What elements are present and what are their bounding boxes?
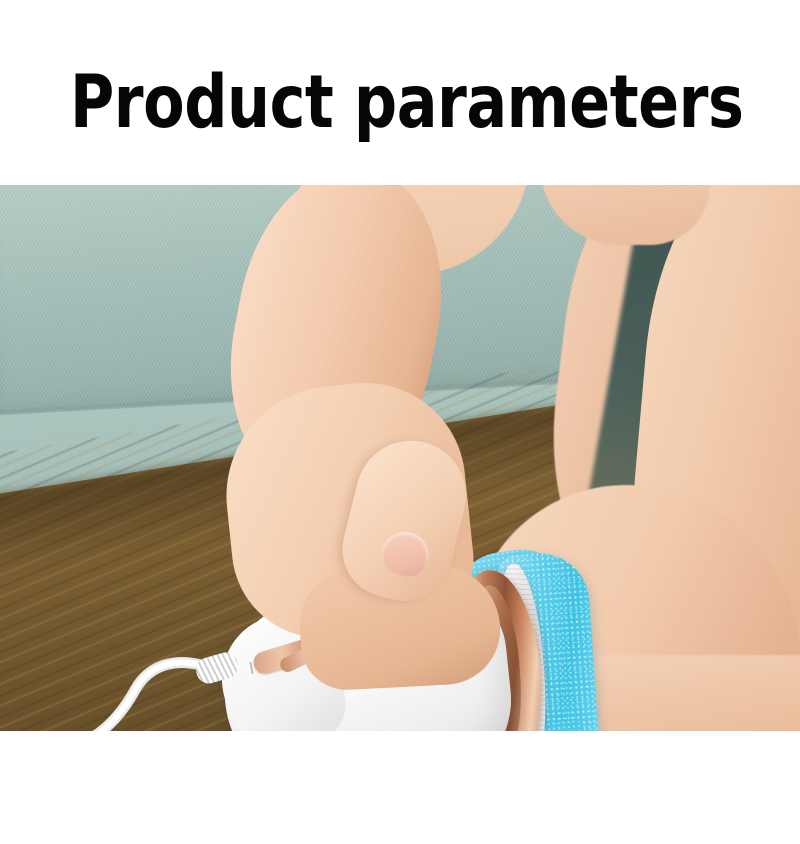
product-parameters-page: Product parameters (0, 0, 800, 844)
product-photo (0, 185, 800, 731)
title-band: Product parameters (0, 0, 800, 185)
page-title: Product parameters (70, 62, 744, 144)
caption-band: Product name: cloth cover fat pusher App… (0, 731, 800, 844)
